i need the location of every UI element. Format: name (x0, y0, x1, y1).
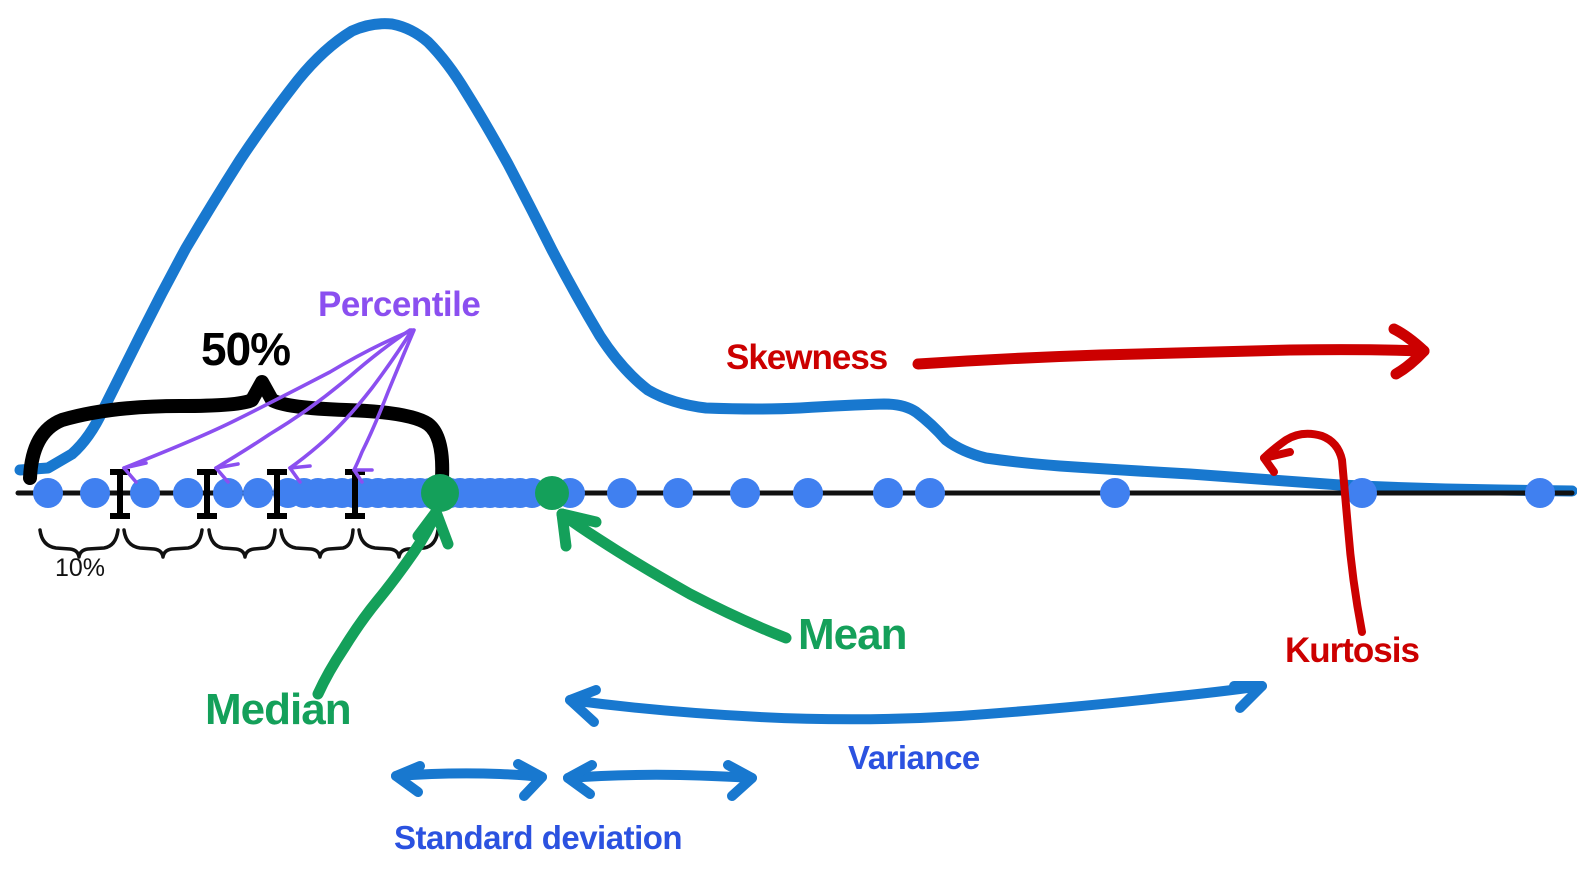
decile-brace (40, 530, 118, 557)
variance-label: Variance (848, 741, 980, 774)
statistics-diagram-svg (0, 0, 1577, 880)
skewness-label: Skewness (726, 340, 887, 375)
data-dot (1100, 478, 1130, 508)
data-dot (663, 478, 693, 508)
data-dot (243, 478, 273, 508)
data-dot (1347, 478, 1377, 508)
fifty-percent-label: 50% (201, 326, 290, 372)
median-dot (421, 474, 459, 512)
mean-arrow (562, 514, 786, 638)
mean-label: Mean (798, 613, 906, 657)
decile-braces-group (40, 530, 438, 557)
variance-arrow (570, 686, 1262, 722)
median-label: Median (205, 688, 351, 732)
decile-brace (209, 530, 275, 557)
stddev-arrow-left (396, 764, 542, 796)
distribution-curve (20, 24, 1572, 491)
percentile-label: Percentile (318, 287, 480, 322)
data-dot (33, 478, 63, 508)
ten-percent-label: 10% (55, 556, 105, 581)
decile-brace (281, 530, 353, 557)
data-dot (730, 478, 760, 508)
decile-brace (124, 530, 202, 557)
median-arrow (318, 512, 448, 694)
diagram-canvas: Percentile 50% 10% Skewness Kurtosis Mea… (0, 0, 1577, 880)
data-dot (607, 478, 637, 508)
data-dot (173, 478, 203, 508)
mean-dot (535, 476, 569, 510)
standard-deviation-label: Standard deviation (394, 821, 682, 854)
stddev-arrow-right (568, 765, 752, 796)
data-dot (915, 478, 945, 508)
distribution-curve-group (20, 24, 1572, 491)
kurtosis-label: Kurtosis (1285, 633, 1419, 668)
data-dot (1525, 478, 1555, 508)
skewness-arrow (918, 329, 1424, 374)
data-dot (793, 478, 823, 508)
data-dot (873, 478, 903, 508)
kurtosis-arrow (1264, 434, 1362, 632)
data-dot (80, 478, 110, 508)
